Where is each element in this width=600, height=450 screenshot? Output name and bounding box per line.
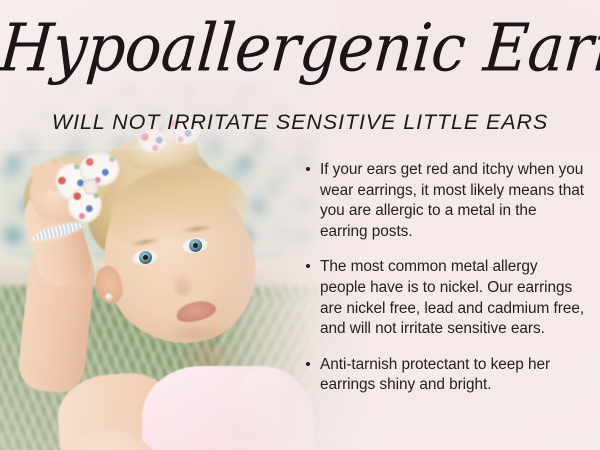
banner-subtitle: WILL NOT IRRITATE SENSITIVE LITTLE EARS [0,110,600,135]
feature-bullet-text: If your ears get red and itchy when you … [320,161,584,240]
banner-title: Hypoallergenic Earrings [0,16,600,82]
feature-bullet-text: The most common metal allergy people hav… [320,258,584,337]
feature-bullet-text: Anti-tarnish protectant to keep her earr… [320,356,550,394]
text-layer: Hypoallergenic Earrings WILL NOT IRRITAT… [0,0,600,450]
feature-bullet-list: If your ears get red and itchy when you … [305,160,587,396]
feature-bullet-item: Anti-tarnish protectant to keep her earr… [305,355,587,396]
feature-bullet-item: The most common metal allergy people hav… [305,257,587,339]
bullet-dot-icon [306,167,310,171]
bullet-dot-icon [306,264,310,268]
hypoallergenic-earrings-banner: Hypoallergenic Earrings WILL NOT IRRITAT… [0,0,600,450]
bullet-dot-icon [306,362,310,366]
feature-bullet-item: If your ears get red and itchy when you … [305,160,587,242]
